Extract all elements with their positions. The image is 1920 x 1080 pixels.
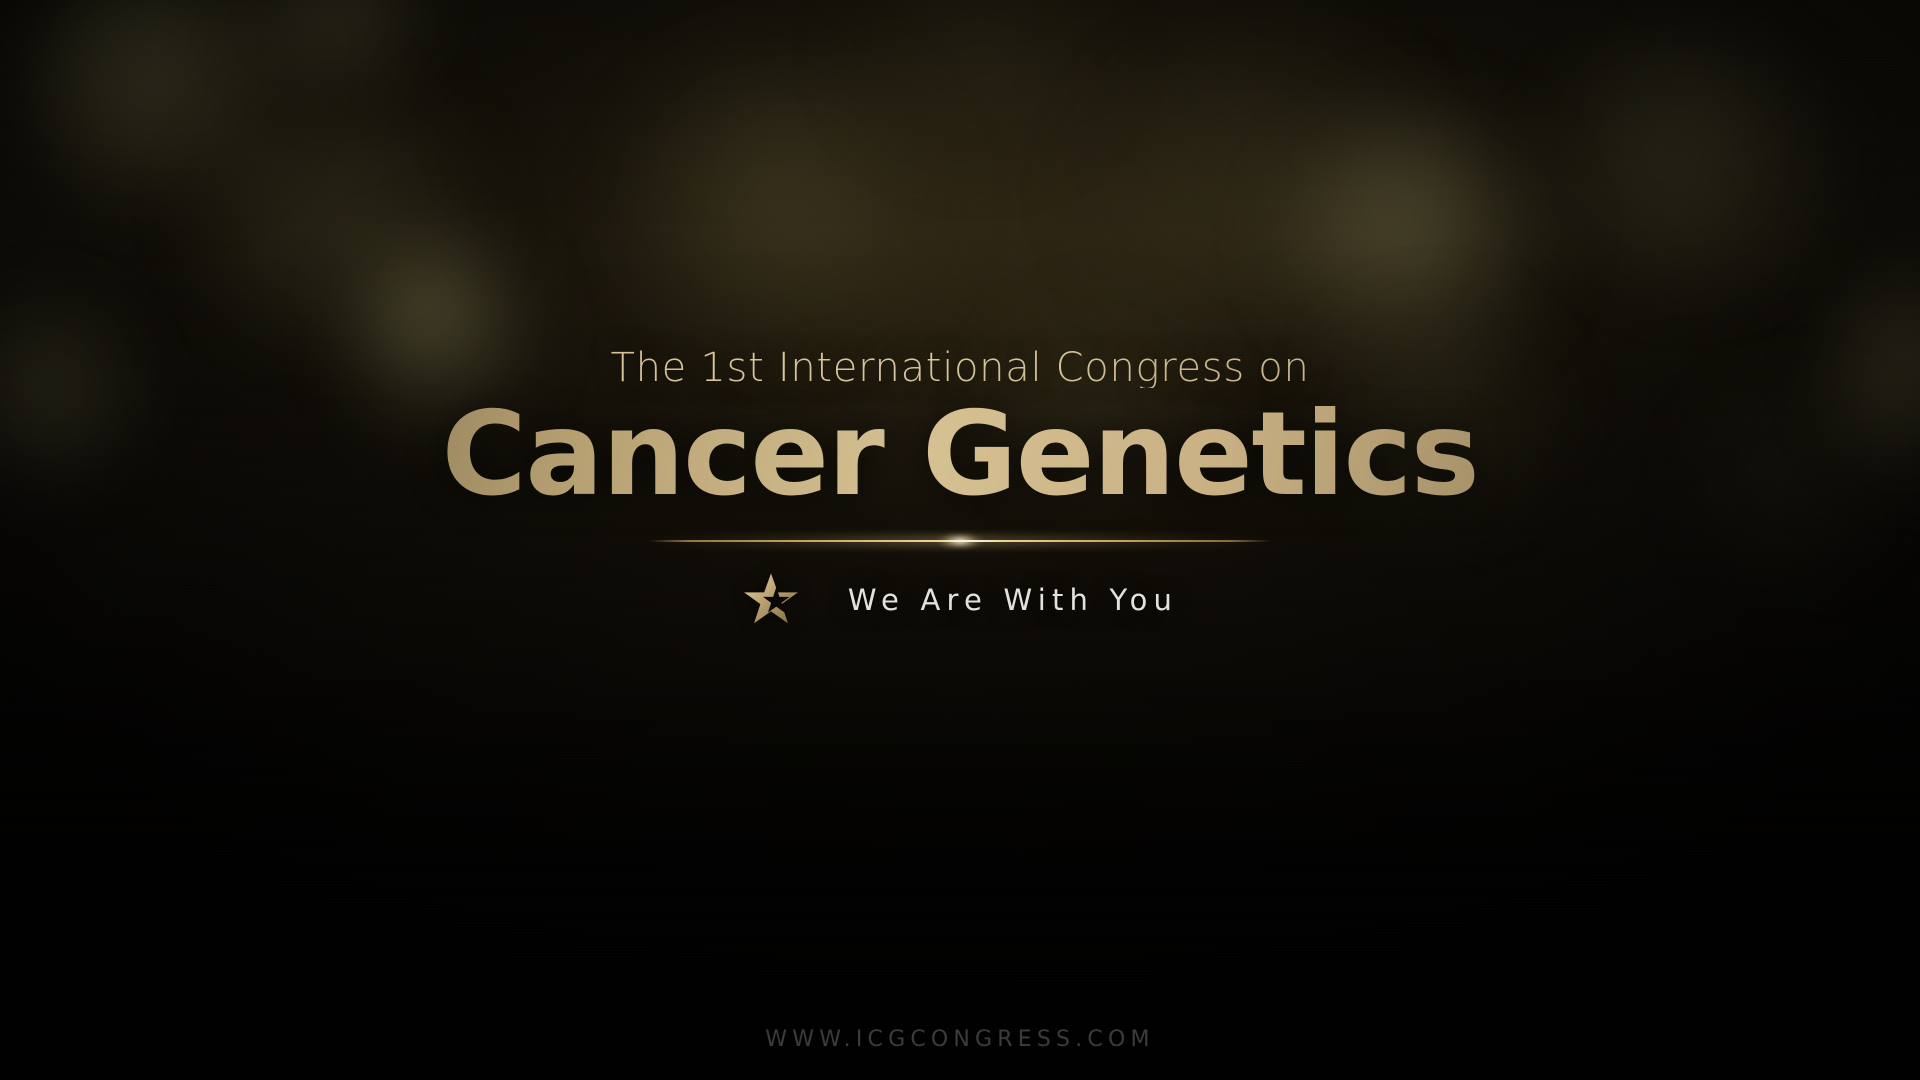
hero-content: The 1st International Congress on Cancer… xyxy=(0,348,1920,628)
gold-divider xyxy=(651,531,1269,551)
divider-spark-icon xyxy=(937,533,983,549)
tagline-row: We Are With You xyxy=(0,572,1920,628)
tagline-text: We Are With You xyxy=(848,583,1178,617)
star-logo-icon xyxy=(742,572,800,628)
title-card-stage: The 1st International Congress on Cancer… xyxy=(0,0,1920,1080)
page-title: Cancer Genetics xyxy=(0,396,1920,514)
footer-website-url[interactable]: WWW.ICGCONGRESS.COM xyxy=(0,1027,1920,1052)
event-eyebrow-text: The 1st International Congress on xyxy=(0,348,1920,388)
